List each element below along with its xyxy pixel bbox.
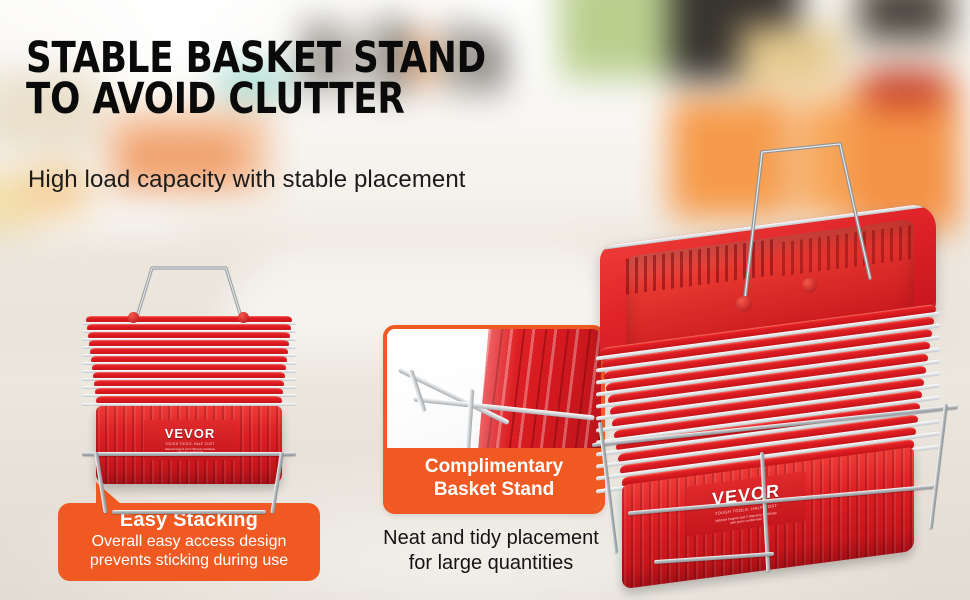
stand-bottom-rail-right [654,552,774,564]
inset-caption: Complimentary Basket Stand [387,448,601,510]
product-right-basket-stack: VEVOR TOUGH TOOLS, HALF COST National Su… [592,148,960,553]
bg-promo-sign-red [865,70,945,106]
vevor-tagline: TOUGH TOOLS, HALF COST [165,442,214,446]
stand-leg-left-a [94,452,107,514]
handle-pivot-left-b [238,312,249,323]
wire-stand-left [82,452,296,514]
basket-slat-stack-left [86,316,292,410]
stand-leg-left-b [270,452,283,514]
product-banner: STABLE BASKET STAND TO AVOID CLUTTER Hig… [0,0,970,600]
product-left-basket-stack: VEVOR TOUGH TOOLS, HALF COST National Su… [86,262,292,500]
inset-basket-wall [476,329,601,456]
stand-bottom-rail-left [112,510,266,514]
callout-body: Overall easy access design prevents stic… [58,532,320,570]
vevor-wordmark: VEVOR [165,426,216,441]
page-subtitle: High load capacity with stable placement [28,166,466,194]
inset-below-caption: Neat and tidy placement for large quanti… [366,526,616,576]
page-title: STABLE BASKET STAND TO AVOID CLUTTER [26,38,486,120]
bg-goods-far-right [860,0,950,40]
bg-cereal-box [740,26,840,88]
handle-pivot-left-a [128,312,139,323]
bg-shelf-right-green [560,0,680,78]
stand-top-rail-right [592,405,958,447]
handle-pivot-right-b [802,278,817,293]
stand-leg-right-b [929,404,948,530]
inset-card-complimentary-stand: Complimentary Basket Stand [383,325,605,514]
wire-stand-right [588,406,966,564]
basket-handle-left [130,260,248,322]
stand-top-rail-left [82,452,296,456]
callout-easy-stacking: Easy Stacking Overall easy access design… [58,503,320,581]
stand-mid-rail-right [628,485,934,516]
handle-pivot-right-a [736,296,752,312]
inset-photo-wire-stand [387,329,601,456]
